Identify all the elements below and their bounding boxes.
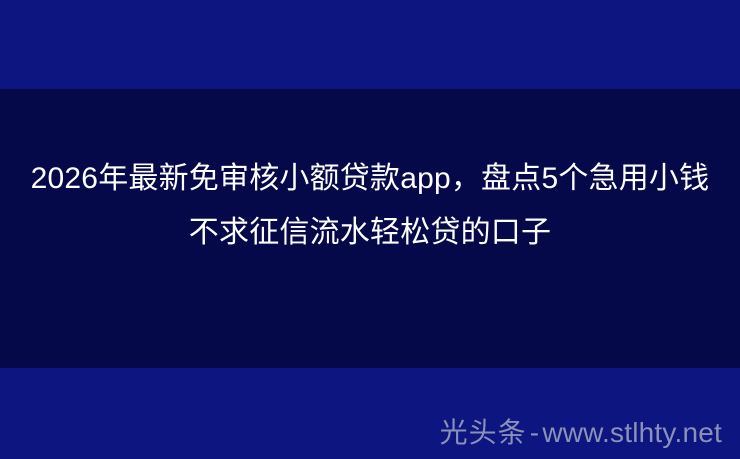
bottom-color-band [0, 368, 740, 459]
banner-title: 2026年最新免审核小额贷款app，盘点5个急用小钱不求征信流水轻松贷的口子 [0, 152, 740, 260]
article-banner: 2026年最新免审核小额贷款app，盘点5个急用小钱不求征信流水轻松贷的口子 光… [0, 0, 740, 459]
top-color-band [0, 0, 740, 89]
